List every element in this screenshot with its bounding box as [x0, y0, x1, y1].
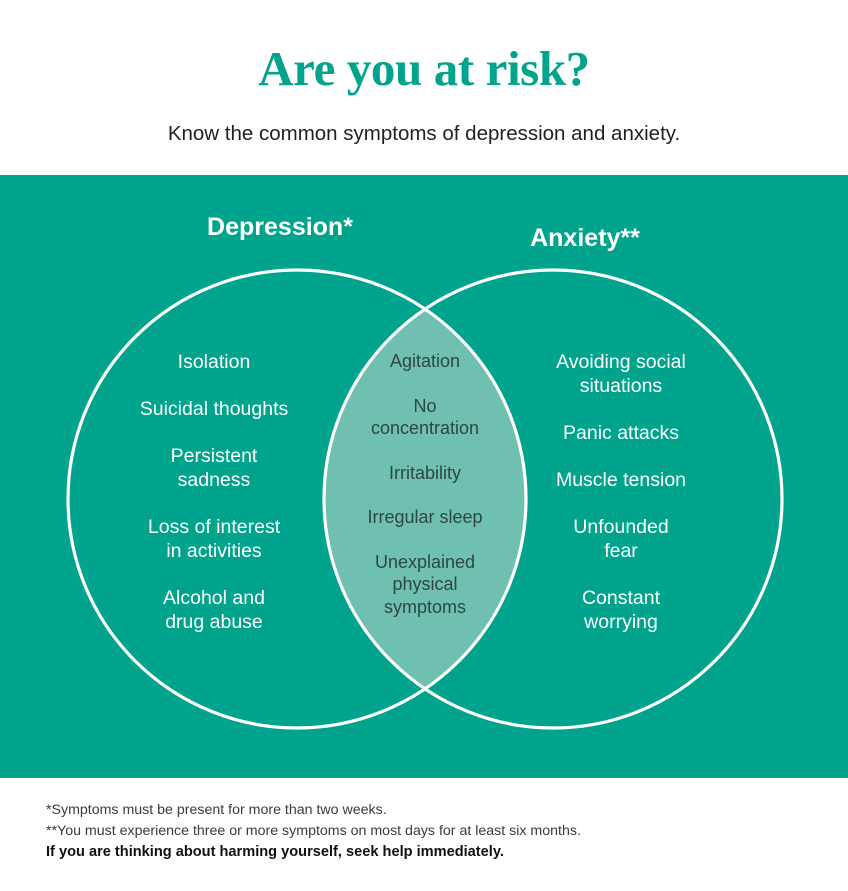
venn-right-title: Anxiety** — [485, 223, 685, 253]
page-subtitle: Know the common symptoms of depression a… — [0, 120, 848, 147]
depression-symptom-list: Isolation Suicidal thoughts Persistentsa… — [98, 350, 330, 657]
list-item: Isolation — [98, 350, 330, 374]
shared-symptom-list: Agitation Noconcentration Irritability I… — [340, 350, 510, 640]
venn-left-title: Depression* — [180, 212, 380, 242]
list-item: Unexplainedphysicalsymptoms — [340, 551, 510, 619]
list-item: Noconcentration — [340, 395, 510, 440]
footnote-anxiety: **You must experience three or more symp… — [46, 821, 806, 842]
list-item: Panic attacks — [505, 421, 737, 445]
list-item: Irregular sleep — [340, 506, 510, 529]
page-title: Are you at risk? — [0, 40, 848, 98]
list-item: Muscle tension — [505, 468, 737, 492]
header: Are you at risk? Know the common symptom… — [0, 0, 848, 175]
list-item: Agitation — [340, 350, 510, 373]
list-item: Constantworrying — [505, 586, 737, 634]
list-item: Persistentsadness — [98, 444, 330, 492]
infographic-page: Are you at risk? Know the common symptom… — [0, 0, 848, 891]
footnote-warning: If you are thinking about harming yourse… — [46, 842, 806, 863]
list-item: Alcohol anddrug abuse — [98, 586, 330, 634]
footnote-depression: *Symptoms must be present for more than … — [46, 800, 806, 821]
anxiety-symptom-list: Avoiding socialsituations Panic attacks … — [505, 350, 737, 657]
footnotes: *Symptoms must be present for more than … — [46, 800, 806, 863]
venn-diagram-band: Depression* Anxiety** Isolation Suicidal… — [0, 175, 848, 778]
list-item: Loss of interestin activities — [98, 515, 330, 563]
list-item: Suicidal thoughts — [98, 397, 330, 421]
list-item: Avoiding socialsituations — [505, 350, 737, 398]
list-item: Unfoundedfear — [505, 515, 737, 563]
list-item: Irritability — [340, 462, 510, 485]
